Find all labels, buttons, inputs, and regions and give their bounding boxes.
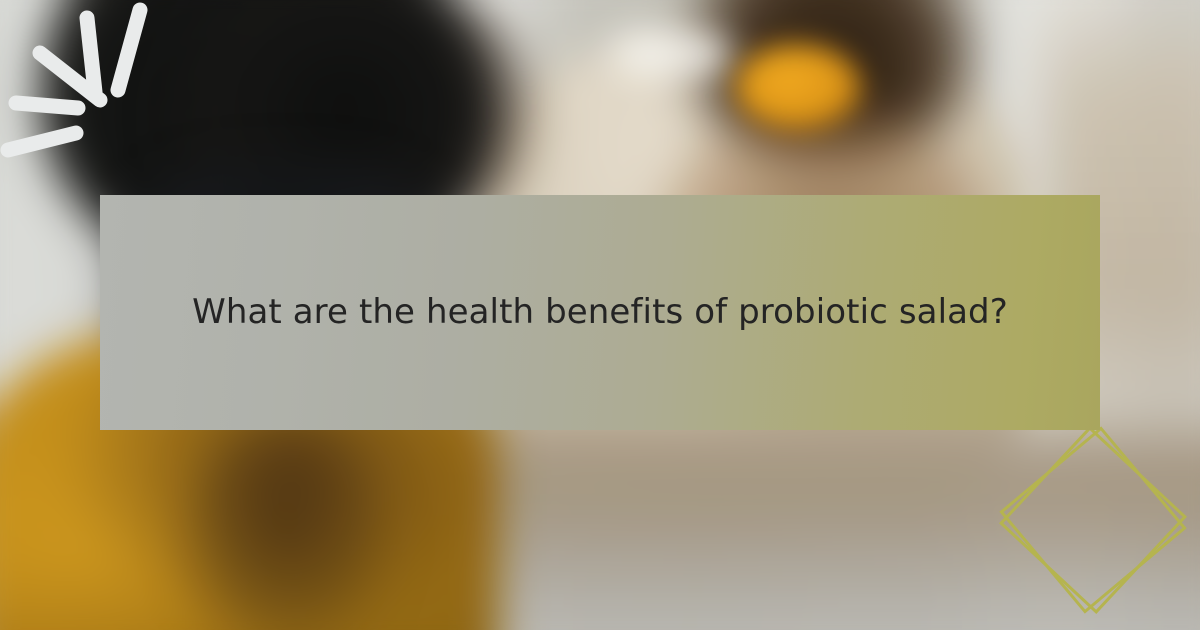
sparkle-strokes	[8, 10, 140, 150]
sparkle-ray-5	[8, 133, 76, 150]
square-outlines	[1001, 428, 1185, 612]
sparkle-ray-4	[16, 103, 78, 108]
square-outline-front	[1001, 428, 1184, 611]
social-share-card: What are the health benefits of probioti…	[0, 0, 1200, 630]
page-title: What are the health benefits of probioti…	[100, 285, 1100, 340]
sparkle-ray-1	[118, 10, 140, 90]
sparkle-burst-icon	[0, 0, 190, 165]
square-outline-back	[1001, 428, 1185, 612]
headline-band: What are the health benefits of probioti…	[100, 195, 1100, 430]
sparkle-ray-2	[87, 18, 95, 92]
overlapping-squares-icon	[985, 415, 1200, 630]
